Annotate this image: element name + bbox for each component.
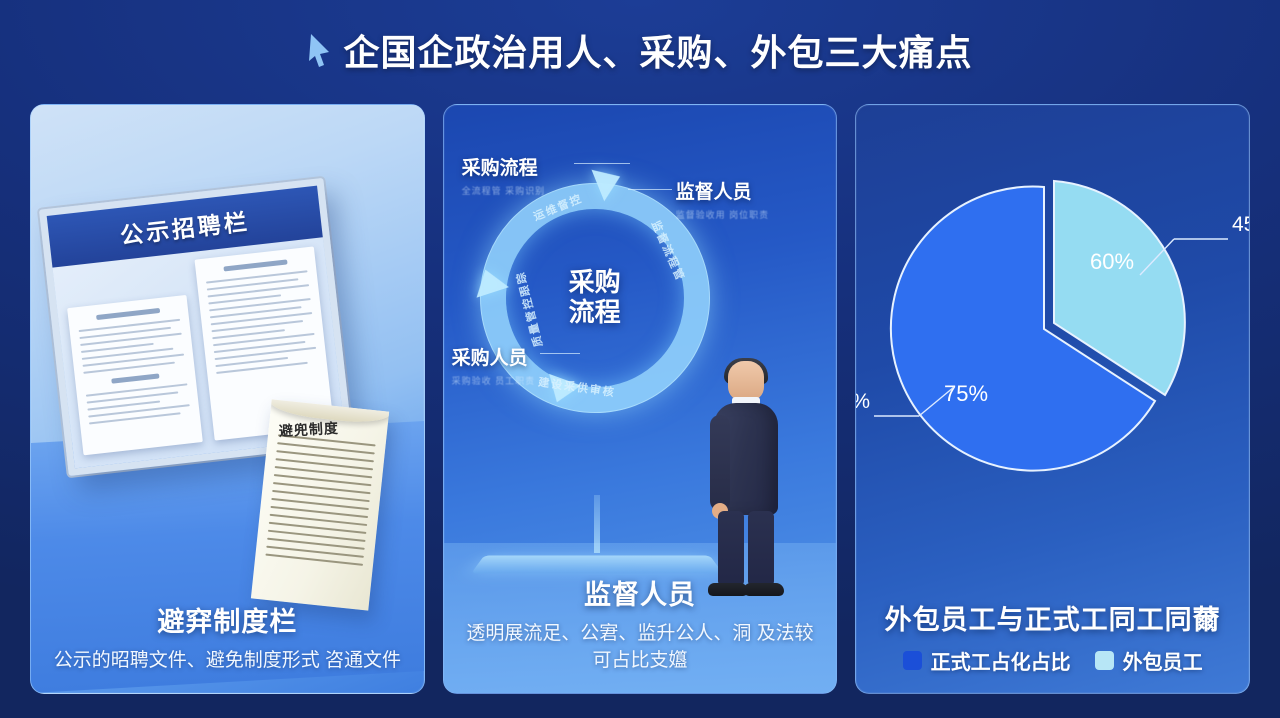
card-2-title: 监督人员	[458, 573, 823, 612]
annotation-title: 采购人员	[452, 343, 536, 370]
cards-row: 公示招聘栏	[0, 104, 1280, 694]
legend-item-regular[interactable]: 正式工占化占比	[903, 646, 1071, 675]
page-title: 企国企政治用人、采购、外包三大痛点	[343, 24, 972, 76]
card-2-text: 透明展流足、公宭、监升公人、洞 及法较可占比支孂	[458, 621, 823, 675]
figure-arm	[710, 415, 730, 511]
annotation-subtitle: 采购验收 员工职责	[452, 374, 536, 387]
card-1-title: 避穽制度栏	[45, 600, 410, 639]
pie-legend: 正式工占化占比 外包员工	[870, 646, 1235, 675]
leader-line	[628, 189, 672, 190]
pie-label-regular: 75%	[944, 381, 988, 406]
pie-outer-label-outsourced: 45%	[1232, 213, 1250, 236]
policy-scroll-graphic: 避兜制度	[251, 399, 389, 610]
pie-chart: 75% 60% 45% 20%	[856, 129, 1249, 529]
annotation-title: 采购流程	[462, 153, 546, 180]
leader-line	[540, 353, 580, 354]
pie-outer-label-regular: 20%	[856, 390, 870, 413]
cycle-center-label: 采购流程	[569, 268, 621, 328]
figure-head	[728, 361, 764, 401]
cursor-arrow-icon	[307, 30, 333, 70]
card-2-caption: 监督人员 透明展流足、公宭、监升公人、洞 及法较可占比支孂	[444, 573, 837, 675]
scroll-label: 避兜制度	[278, 418, 339, 441]
legend-item-outsourced[interactable]: 外包员工	[1095, 646, 1203, 675]
pedestal-stem	[594, 495, 600, 553]
board-header-label: 公示招聘栏	[118, 202, 251, 250]
document-sheet-left	[67, 295, 203, 455]
card-1-text: 公示的昭聘文件、避免制度形式 咨通文件	[45, 648, 410, 675]
pie-label-outsourced: 60%	[1090, 249, 1134, 274]
card-3-caption: 外包员工与正式工同工同薾 正式工占化占比 外包员工	[856, 598, 1249, 675]
legend-label-regular: 正式工占化占比	[931, 646, 1071, 675]
annotation-procurement-process: 采购流程 全流程管 采购识别	[462, 153, 546, 197]
legend-swatch-outsourced	[1095, 651, 1114, 670]
annotation-subtitle: 监督验收用 岗位职责	[676, 208, 770, 221]
card-bulletin-board[interactable]: 公示招聘栏	[30, 104, 425, 694]
leader-line	[574, 163, 630, 164]
annotation-supervisor: 监督人员 监督验收用 岗位职责	[676, 177, 770, 221]
card-outsourcing-pie[interactable]: 75% 60% 45% 20% 外包员工与正式工同工同薾 正式工占化占比 外包员…	[855, 104, 1250, 694]
card-procurement-cycle[interactable]: 运维督控 监督流程管 建设采供审核 质量管控跟踪 采购流程 采购流程 全流程管 …	[443, 104, 838, 694]
card-3-title: 外包员工与正式工同工同薾	[870, 598, 1235, 637]
annotation-subtitle: 全流程管 采购识别	[462, 184, 546, 197]
annotation-title: 监督人员	[676, 177, 770, 204]
page-header: 企国企政治用人、采购、外包三大痛点	[0, 0, 1280, 100]
card-1-caption: 避穽制度栏 公示的昭聘文件、避免制度形式 咨通文件	[31, 600, 424, 675]
annotation-buyer: 采购人员 采购验收 员工职责	[452, 343, 536, 387]
legend-label-outsourced: 外包员工	[1123, 646, 1203, 675]
businessman-figure	[702, 361, 788, 597]
legend-swatch-regular	[903, 651, 922, 670]
pedestal-base	[471, 555, 723, 573]
